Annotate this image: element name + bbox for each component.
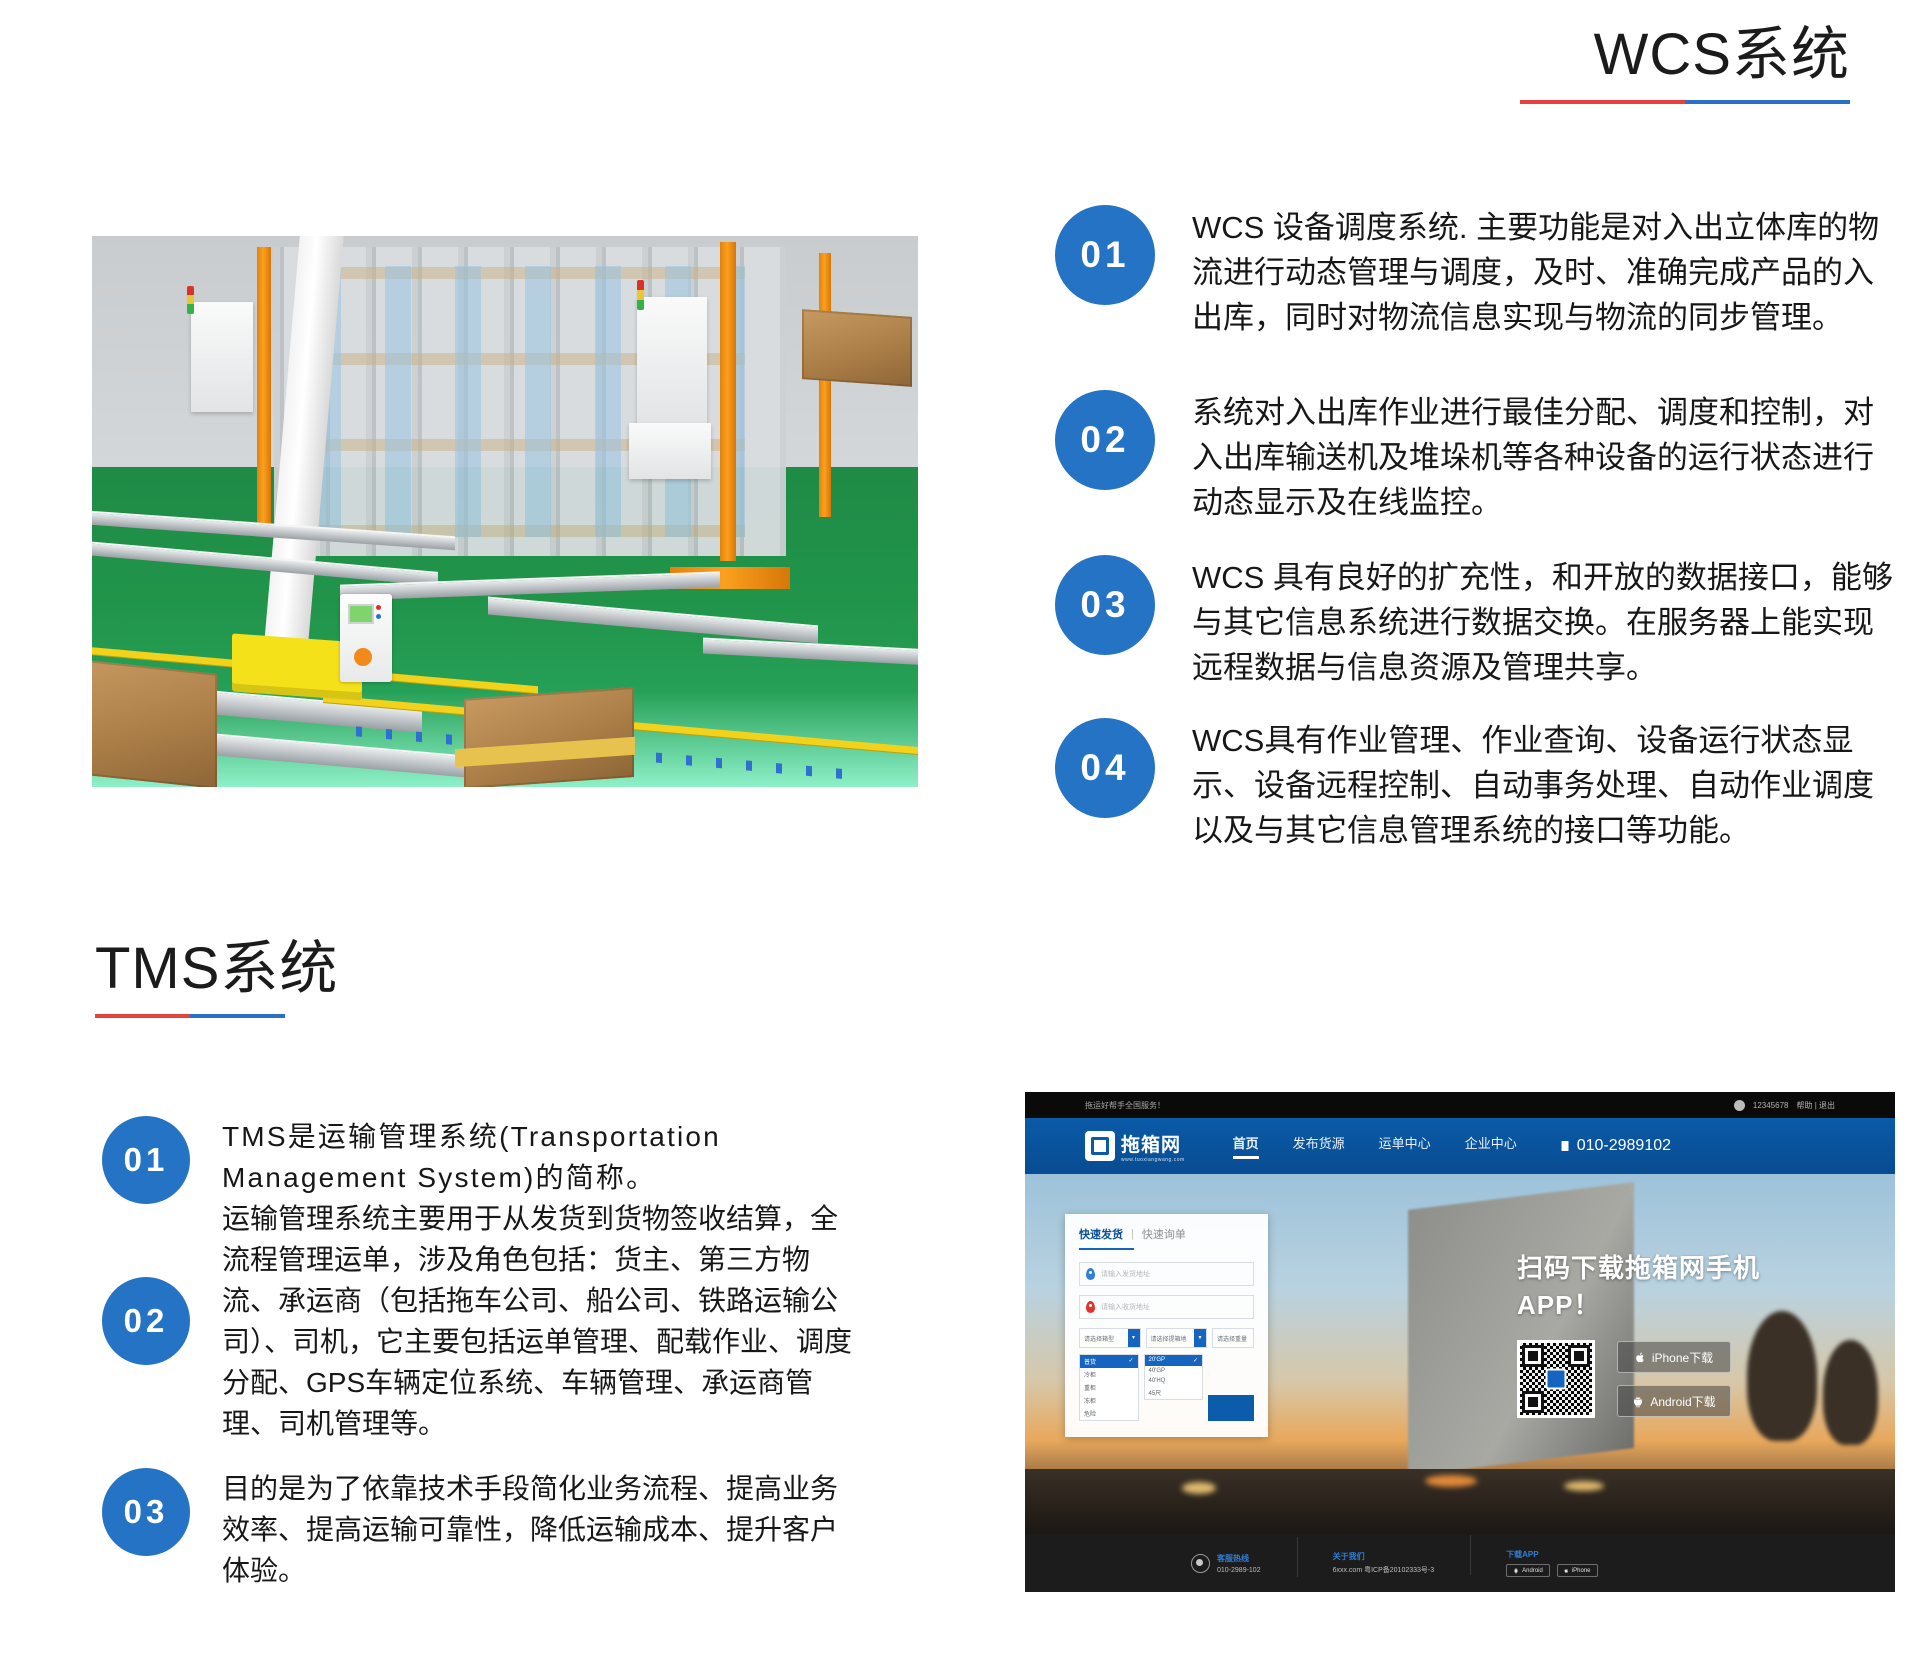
chevron-down-icon: ▼ [1128,1329,1140,1347]
android-download-button[interactable]: Android下载 [1617,1385,1731,1417]
mockup-footer: 客服热线 010-2989-102 关于我们 6xxx.com 粤ICP备201… [1025,1534,1895,1592]
select-row: 请选择箱型 ▼ 请选择提箱地 ▼ 请选择重量 [1079,1328,1254,1348]
wcs-section-title: WCS系统 [1594,26,1850,84]
topbar-account[interactable]: 12345678 帮助 | 退出 [1734,1100,1835,1111]
stacker-mast-left [257,247,271,523]
map-pin-destination-icon [1086,1301,1095,1313]
cargo-type-value: 请选择箱型 [1084,1334,1114,1343]
rule-blue-half [190,1014,285,1018]
wcs-item-number-badge: 02 [1055,390,1155,490]
footer-iphone-label: iPhone [1572,1568,1591,1574]
apple-icon [1564,1567,1569,1574]
tab-separator: | [1131,1228,1134,1240]
headset-icon [1191,1554,1210,1573]
footer-download: 下载APP Android iPhone [1470,1549,1633,1577]
tms-list-item-02: 02 运输管理系统主要用于从发货到货物签收结算，全流程管理运单，涉及角色包括：货… [102,1198,902,1444]
logo-mark-icon [1085,1131,1115,1161]
footer-iphone-button[interactable]: iPhone [1557,1564,1598,1577]
iphone-download-label: iPhone下载 [1652,1349,1713,1366]
wcs-list-item-01: 01 WCS 设备调度系统. 主要功能是对入出立体库的物流进行动态管理与调度，及… [1055,205,1895,340]
dropdown-option[interactable]: 45尺 [1145,1386,1203,1399]
pallet-boxes-center [464,687,634,787]
panel-screen [348,604,374,624]
wcs-item-number-badge: 04 [1055,718,1155,818]
hero-banner: 快速发货 | 快速询单 请输入发货地址 请输入收货地址 请选择箱型 ▼ [1025,1174,1895,1534]
footer-android-button[interactable]: Android [1506,1564,1550,1577]
tms-item-number-badge: 03 [102,1468,190,1556]
dropdown-option[interactable]: 40'HQ [1145,1376,1203,1386]
map-pin-origin-icon [1086,1268,1095,1280]
apple-icon [1635,1351,1646,1364]
tms-section-title: TMS系统 [95,940,338,998]
footer-android-label: Android [1522,1568,1543,1574]
hero-tree-far-right [1823,1340,1878,1445]
qr-eye-icon [1522,1345,1544,1367]
origin-field[interactable]: 请输入发货地址 [1079,1262,1254,1286]
weight-value: 请选择重量 [1217,1334,1247,1343]
dropdown-option-selected[interactable]: 普货✓ [1080,1355,1138,1368]
crane-carriage-right [629,423,711,479]
hero-light-3 [1564,1481,1604,1491]
app-download-row: iPhone下载 Android下载 [1517,1340,1817,1418]
destination-placeholder: 请输入收货地址 [1101,1302,1150,1312]
footer-hotline: 客服热线 010-2989-102 [1155,1553,1297,1574]
tms-item-text: 目的是为了依靠技术手段简化业务流程、提高业务效率、提高运输可靠性，降低运输成本、… [222,1468,857,1591]
footer-app-buttons: Android iPhone [1506,1564,1597,1577]
tms-item-text: 运输管理系统主要用于从发货到货物签收结算，全流程管理运单，涉及角色包括：货主、第… [222,1198,857,1444]
site-logo[interactable]: 拖箱网 www.tuoxiangwang.com [1085,1130,1185,1163]
tms-item-text: TMS是运输管理系统(Transportation Management Sys… [222,1116,857,1198]
rule-red-half [95,1014,190,1018]
wcs-item-text: WCS 具有良好的扩充性，和开放的数据接口，能够与其它信息系统进行数据交换。在服… [1192,555,1895,690]
android-icon [1632,1395,1644,1408]
tab-quick-quote[interactable]: 快速询单 [1142,1226,1186,1242]
cargo-type-select[interactable]: 请选择箱型 ▼ [1079,1328,1141,1348]
tms-list-item-01: 01 TMS是运输管理系统(Transportation Management … [102,1116,902,1204]
destination-field[interactable]: 请输入收货地址 [1079,1295,1254,1319]
dropdown-option[interactable]: 重柜 [1080,1381,1138,1394]
pallet-boxes-rack [802,309,912,387]
signal-tower-right [637,280,644,310]
dropdown-option[interactable]: 40'GP [1145,1366,1203,1376]
app-download-title: 扫码下载拖箱网手机APP！ [1517,1248,1817,1322]
dropdown-row: 普货✓ 冷柜 重柜 冻柜 危险 20'GP✓ 40'GP 40'HQ 45尺 [1079,1352,1254,1421]
android-download-label: Android下载 [1650,1393,1715,1410]
tab-quick-ship[interactable]: 快速发货 [1079,1226,1123,1242]
warehouse-racking [274,247,786,556]
tms-website-screenshot: 拖运好帮手全国服务！ 12345678 帮助 | 退出 拖箱网 www.tuox… [1025,1092,1895,1592]
nav-menu: 首页 发布货源 运单中心 企业中心 [1233,1133,1517,1159]
qr-eye-icon [1568,1345,1590,1367]
qr-logo-icon [1546,1369,1567,1390]
weight-select[interactable]: 请选择重量 [1212,1328,1254,1348]
pallet-boxes-left [92,658,217,787]
topbar-links[interactable]: 帮助 | 退出 [1796,1100,1835,1111]
cargo-type-dropdown[interactable]: 普货✓ 冷柜 重柜 冻柜 危险 [1079,1354,1139,1421]
submit-button[interactable] [1208,1395,1254,1421]
wcs-item-text: 系统对入出库作业进行最佳分配、调度和控制，对入出库输送机及堆垛机等各种设备的运行… [1192,390,1895,525]
iphone-download-button[interactable]: iPhone下载 [1617,1341,1731,1373]
dropdown-option[interactable]: 冻柜 [1080,1394,1138,1407]
footer-about: 关于我们 6xxx.com 粤ICP备20102333号-3 [1297,1551,1471,1575]
tms-list-item-03: 03 目的是为了依靠技术手段简化业务流程、提高业务效率、提高运输可靠性，降低运输… [102,1468,902,1591]
mockup-topbar: 拖运好帮手全国服务！ 12345678 帮助 | 退出 [1025,1092,1895,1118]
signal-tower-left [187,286,194,314]
dropdown-option[interactable]: 危险 [1080,1407,1138,1420]
topbar-username: 12345678 [1753,1101,1789,1110]
stacker-mast-right [720,242,736,562]
footer-about-label[interactable]: 关于我们 [1333,1551,1435,1562]
footer-icp-value: 6xxx.com 粤ICP备20102333号-3 [1333,1565,1435,1575]
form-tabs: 快速发货 | 快速询单 [1079,1226,1254,1242]
rule-red-half [1520,100,1685,104]
android-icon [1513,1567,1519,1574]
mockup-navbar: 拖箱网 www.tuoxiangwang.com 首页 发布货源 运单中心 企业… [1025,1118,1895,1174]
quick-shipment-form: 快速发货 | 快速询单 请输入发货地址 请输入收货地址 请选择箱型 ▼ [1065,1214,1268,1437]
agv-control-panel [340,594,392,682]
footer-hotline-label: 客服热线 [1217,1553,1261,1564]
logo-subtext: www.tuoxiangwang.com [1121,1157,1185,1163]
nav-phone: 010-2989102 [1559,1137,1671,1155]
nav-item-waybill[interactable]: 运单中心 [1379,1133,1431,1159]
wcs-list-item-03: 03 WCS 具有良好的扩充性，和开放的数据接口，能够与其它信息系统进行数据交换… [1055,555,1895,690]
nav-phone-number: 010-2989102 [1577,1137,1671,1155]
chevron-down-icon: ▼ [1194,1329,1206,1347]
wcs-item-number-badge: 03 [1055,555,1155,655]
logo-text: 拖箱网 [1121,1135,1181,1156]
tms-item-number-badge: 01 [102,1116,190,1204]
slide-root: WCS系统 [0,0,1920,1671]
container-size-dropdown[interactable]: 20'GP✓ 40'GP 40'HQ 45尺 [1144,1354,1204,1400]
qr-eye-icon [1522,1391,1544,1413]
app-download-block: 扫码下载拖箱网手机APP！ iPhon [1517,1248,1817,1418]
crane-cabin-left [191,302,253,412]
qr-code-image [1517,1340,1595,1418]
nav-item-home[interactable]: 首页 [1233,1133,1259,1159]
download-buttons: iPhone下载 Android下载 [1617,1341,1731,1417]
wcs-list-item-02: 02 系统对入出库作业进行最佳分配、调度和控制，对入出库输送机及堆垛机等各种设备… [1055,390,1895,525]
pickup-place-select[interactable]: 请选择提箱地 ▼ [1146,1328,1208,1348]
stacker-mast-far [819,253,831,517]
dropdown-option[interactable]: 冷柜 [1080,1368,1138,1381]
dropdown-option-selected[interactable]: 20'GP✓ [1145,1355,1203,1366]
rule-blue-half [1685,100,1850,104]
footer-download-label: 下载APP [1506,1549,1597,1560]
warehouse-3d-illustration [92,236,918,787]
crane-cabin-right [637,297,707,427]
active-tab-underline [1079,1248,1134,1250]
pickup-place-value: 请选择提箱地 [1151,1334,1187,1343]
wcs-list-item-04: 04 WCS具有作业管理、作业查询、设备运行状态显示、设备远程控制、自动事务处理… [1055,718,1895,853]
nav-item-enterprise[interactable]: 企业中心 [1465,1133,1517,1159]
origin-placeholder: 请输入发货地址 [1101,1269,1150,1279]
wcs-item-text: WCS 设备调度系统. 主要功能是对入出立体库的物流进行动态管理与调度，及时、准… [1192,205,1895,340]
wcs-item-text: WCS具有作业管理、作业查询、设备运行状态显示、设备远程控制、自动事务处理、自动… [1192,718,1895,853]
wcs-item-number-badge: 01 [1055,205,1155,305]
footer-hotline-value: 010-2989-102 [1217,1567,1261,1574]
nav-item-publish[interactable]: 发布货源 [1293,1133,1345,1159]
topbar-slogan: 拖运好帮手全国服务！ [1085,1100,1165,1111]
wcs-title-rule [1520,100,1850,104]
tms-item-number-badge: 02 [102,1277,190,1365]
phone-icon [1559,1140,1571,1152]
tms-title-rule [95,1014,285,1018]
user-avatar-icon [1734,1100,1745,1111]
